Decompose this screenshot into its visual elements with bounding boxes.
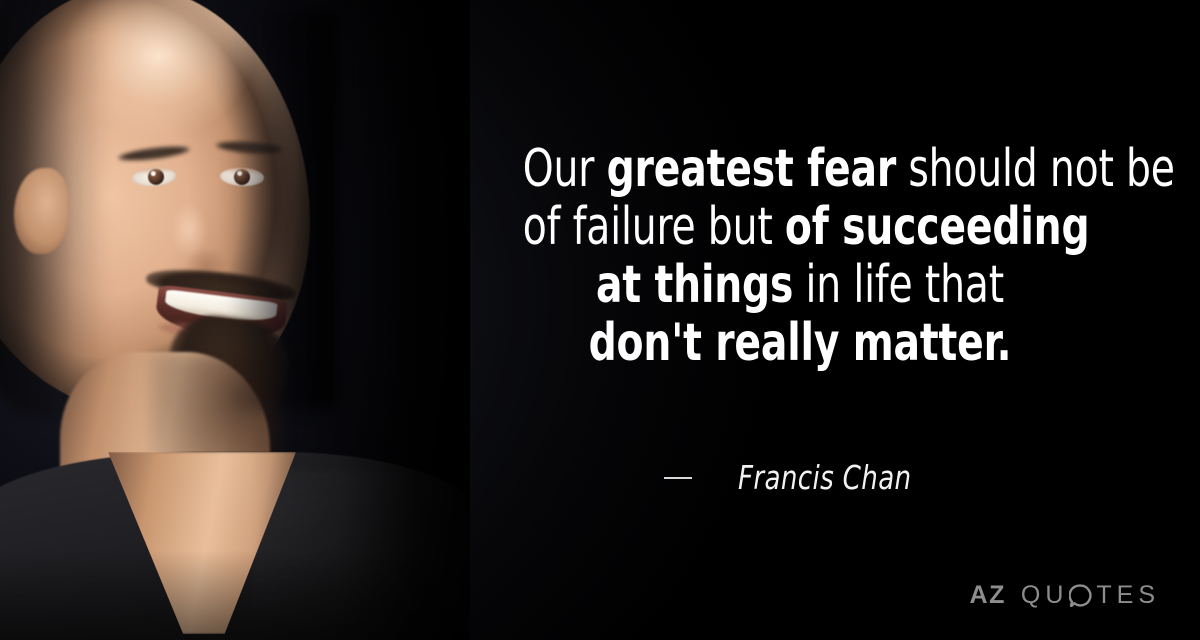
az-quotes-watermark: AZ QU TES (970, 583, 1160, 608)
quote-line-4: don't really matter. (523, 314, 1077, 372)
watermark-qu: QU (1021, 583, 1069, 608)
photo-grain-overlay (0, 0, 470, 640)
quote-run-emphasis: don't really matter. (589, 313, 1012, 373)
quote-run: in life that (793, 255, 1004, 315)
speech-bubble-icon (1069, 584, 1092, 607)
quote-line-2: of failure but of succeeding (523, 198, 1077, 256)
portrait-photo (0, 0, 470, 640)
quote-run-emphasis: of succeeding (785, 197, 1090, 257)
attribution: Francis Chan (470, 458, 1130, 497)
quote-run: should not be (896, 139, 1175, 199)
quote-text-block: Our greatest fear should not be of failu… (470, 140, 1130, 372)
attribution-dash-icon (664, 477, 692, 479)
quote-run-emphasis: greatest fear (607, 139, 896, 199)
author-name: Francis Chan (738, 458, 911, 497)
quote-line-3: at things in life that (523, 256, 1077, 314)
quote-line-1: Our greatest fear should not be (523, 140, 1077, 198)
quote-card: Our greatest fear should not be of failu… (0, 0, 1200, 640)
quote-run: Our (523, 139, 607, 199)
quote-run: of failure but (523, 197, 785, 257)
watermark-tes: TES (1096, 583, 1160, 608)
watermark-az: AZ (970, 583, 1006, 608)
quote-run-emphasis: at things (596, 255, 793, 315)
